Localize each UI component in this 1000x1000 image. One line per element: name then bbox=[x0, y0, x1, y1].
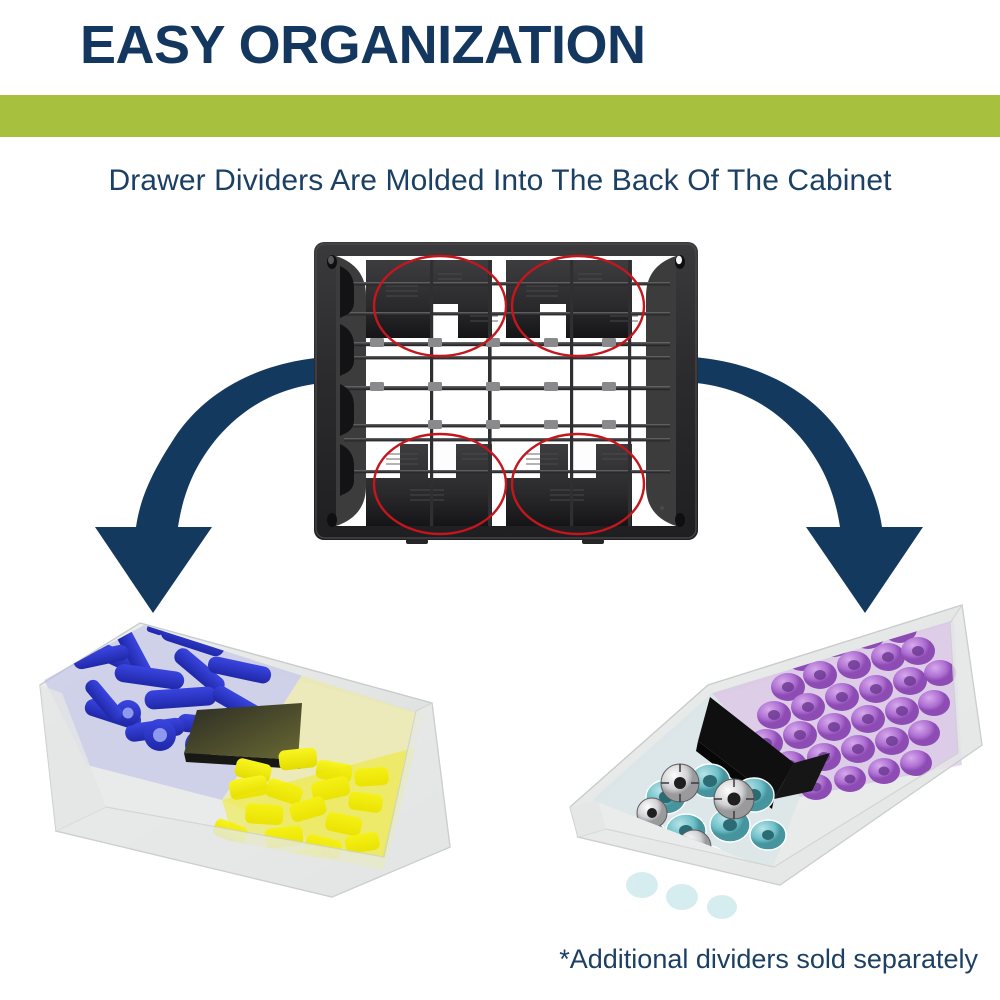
footnote: *Additional dividers sold separately bbox=[559, 944, 978, 975]
cabinet-back-image bbox=[310, 238, 702, 550]
infographic-page: EASY ORGANIZATION Drawer Dividers Are Mo… bbox=[0, 0, 1000, 1000]
subtitle: Drawer Dividers Are Molded Into The Back… bbox=[0, 164, 1000, 198]
drawer-right bbox=[562, 585, 992, 925]
page-title: EASY ORGANIZATION bbox=[80, 14, 646, 76]
drawer-left bbox=[32, 585, 462, 915]
accent-bar bbox=[0, 95, 1000, 137]
